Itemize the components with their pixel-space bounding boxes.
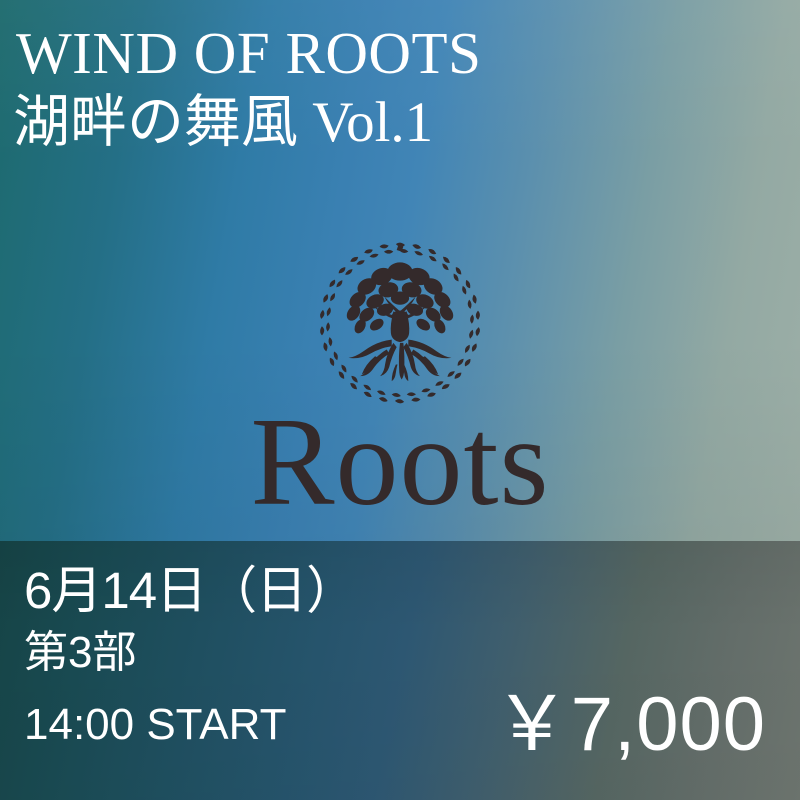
price-block: ￥7,000 [494,687,766,763]
event-title-english: WIND OF ROOTS [16,22,786,85]
event-poster: WIND OF ROOTS 湖畔の舞風 Vol.1 [0,0,800,800]
schedule-block: 6月14日（日） 第3部 14:00 START [24,563,454,750]
event-title-japanese: 湖畔の舞風 Vol.1 [13,91,786,155]
event-start-time: 14:00 START [24,701,454,749]
poster-headline: WIND OF ROOTS 湖畔の舞風 Vol.1 [16,22,786,154]
event-part: 第3部 [24,629,454,677]
info-background: 6月14日（日） 第3部 14:00 START ￥7,000 [0,541,800,800]
tree-of-life-logo-icon [317,240,483,406]
event-date: 6月14日（日） [24,563,454,619]
ticket-price: ￥7,000 [494,687,766,763]
brand-wordmark: Roots [0,400,800,526]
brand-logo-group: Roots [0,240,800,526]
